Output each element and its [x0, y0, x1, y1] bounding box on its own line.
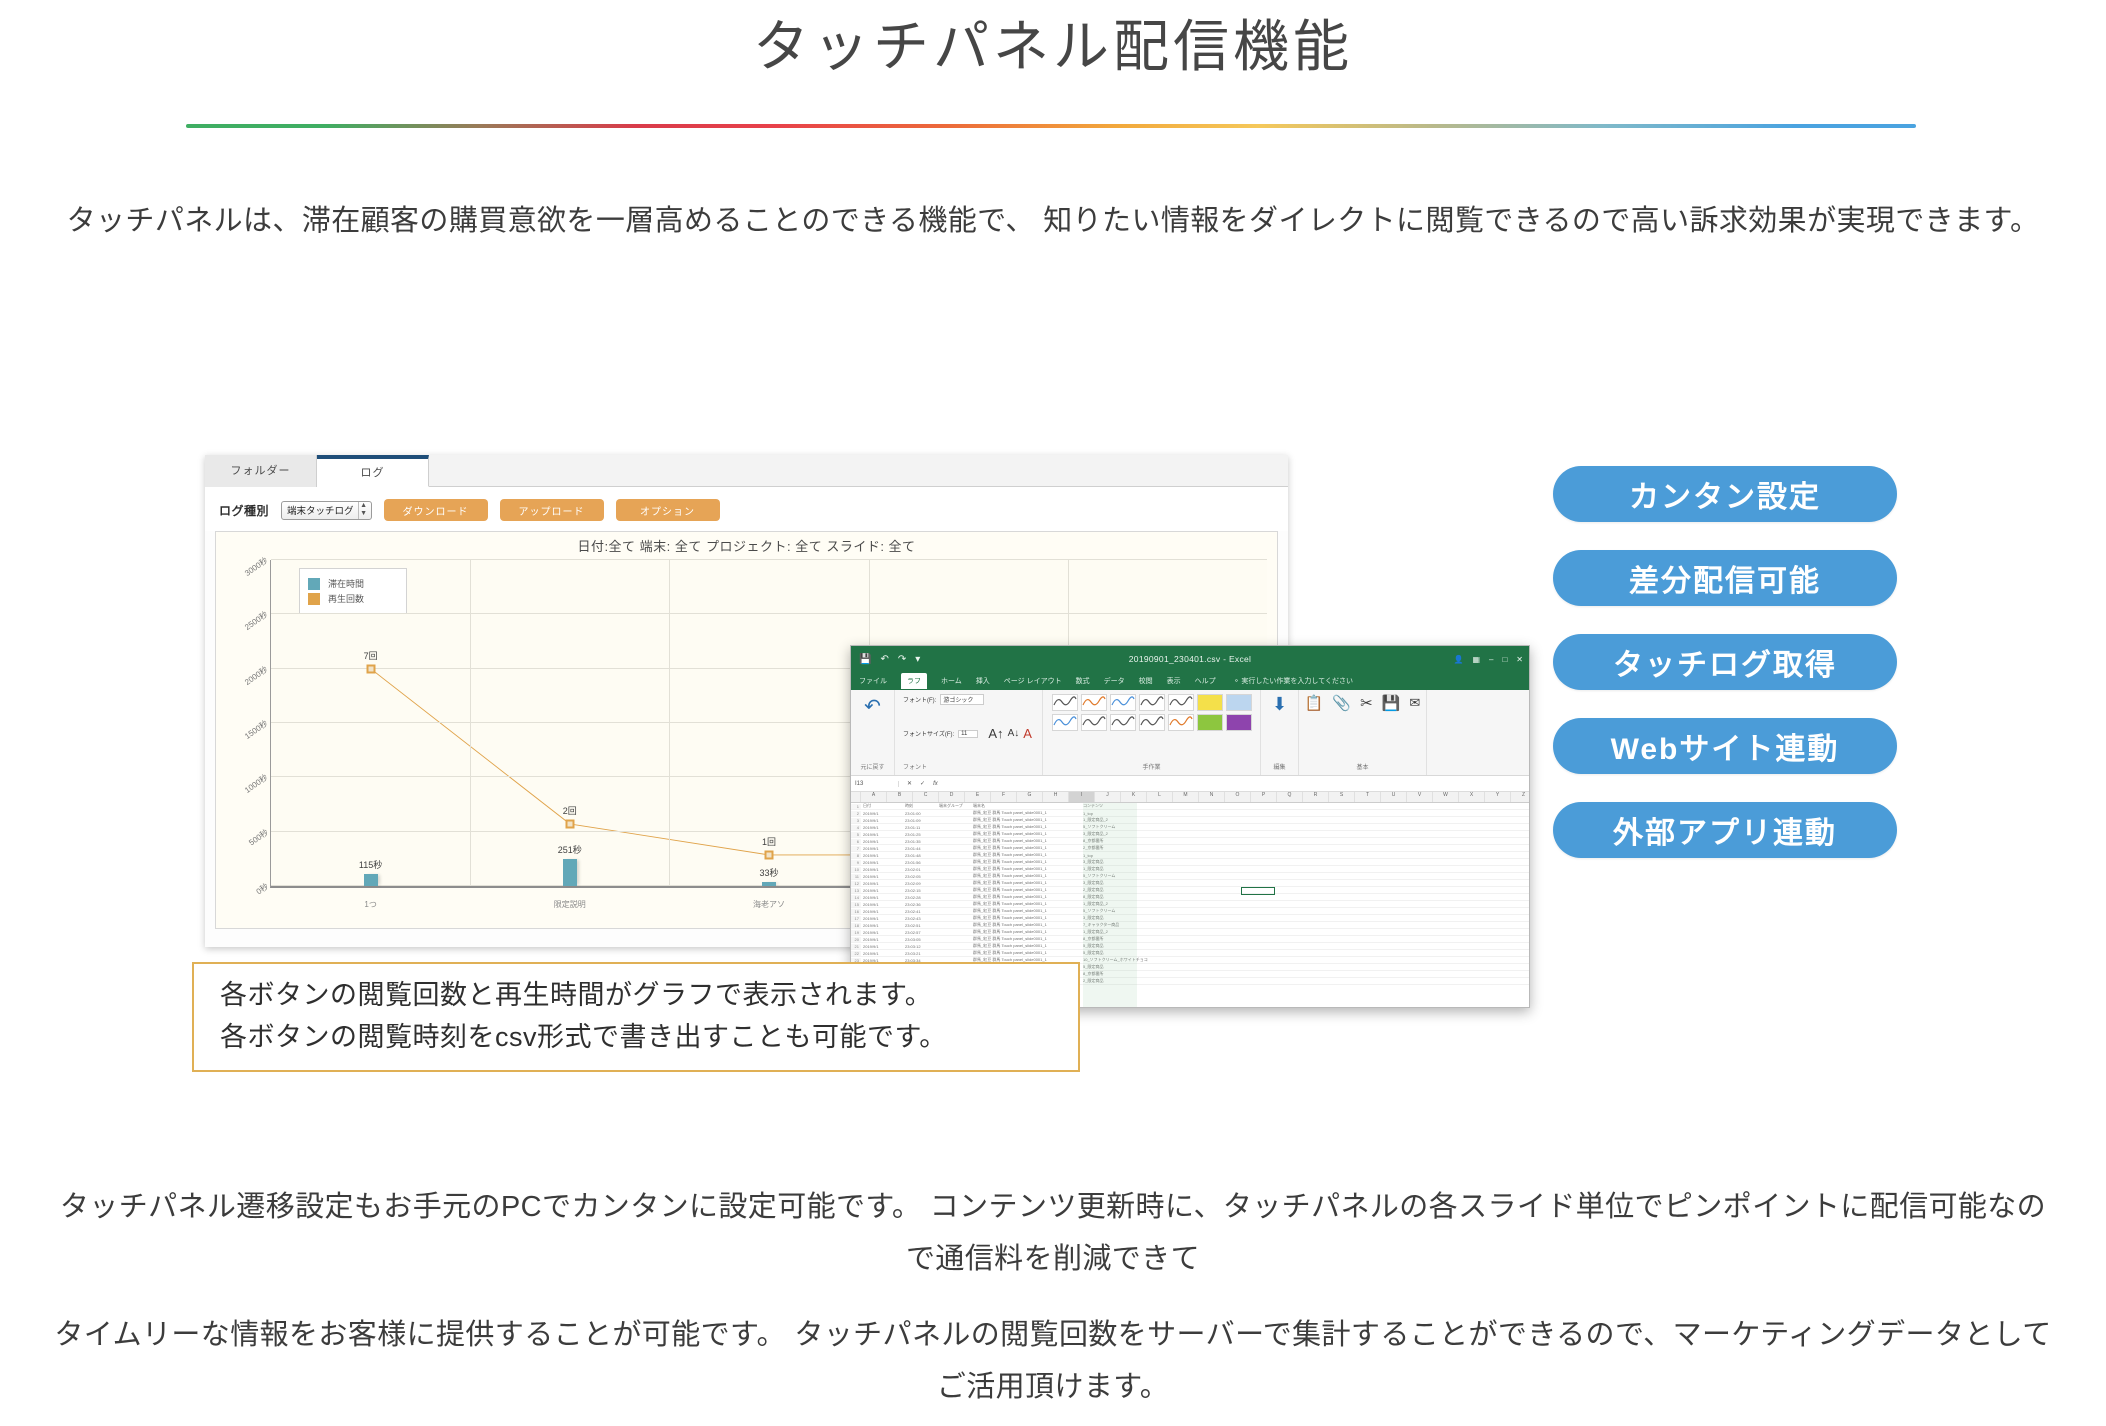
column-header-E[interactable]: E — [965, 792, 991, 802]
tell-me-box[interactable]: ⚬ 実行したい作業を入力してください — [1234, 676, 1353, 686]
table-cell: 2019/9/1 — [861, 846, 905, 851]
tab-folder[interactable]: フォルダー — [205, 455, 317, 487]
table-cell: 23:01:25 — [905, 832, 939, 837]
table-cell: 群馬_紅豆 群馬 Touch panel_slide0001_1 — [973, 831, 1083, 837]
table-cell: 2019/9/1 — [861, 923, 905, 928]
table-cell: 2019/9/1 — [861, 874, 905, 879]
table-cell: 23:03:21 — [905, 951, 939, 956]
column-headers: ABCDEFGHIJKLMNOPQRSTUVWXYZAAABACADAE — [851, 792, 1529, 803]
feature-pill-list: カンタン設定差分配信可能タッチログ取得Webサイト連動外部アプリ連動 — [1553, 466, 1897, 858]
table-cell: 23:01:56 — [905, 860, 939, 865]
feature-pill-4[interactable]: Webサイト連動 — [1553, 718, 1897, 774]
row-number[interactable]: 15 — [851, 902, 861, 907]
ribbon-group-styles: 手作業 — [1043, 690, 1261, 775]
style-swatch-10[interactable] — [1110, 714, 1136, 731]
table-row[interactable]: 82019/9/123:01:48群馬_紅豆 群馬 Touch panel_sl… — [851, 852, 1529, 859]
excel-ribbon: ↶ 元に戻す フォント(F): 游ゴシック フォントサイズ(F): 11 A↑ … — [851, 690, 1529, 776]
excel-window: 💾 ↶ ↷ ▾ 20190901_230401.csv - Excel 👤 ▦ … — [850, 645, 1530, 1008]
row-number[interactable]: 22 — [851, 951, 861, 956]
upload-button[interactable]: アップロード — [500, 499, 604, 521]
table-cell: 群馬_紅豆 群馬 Touch panel_slide0001_1 — [973, 859, 1083, 865]
column-header-X[interactable]: X — [1459, 792, 1485, 802]
table-cell: 2019/9/1 — [861, 881, 905, 886]
table-cell: 2019/9/1 — [861, 853, 905, 858]
ribbon-group-undo: ↶ 元に戻す — [851, 690, 895, 775]
table-cell: 群馬_紅豆 群馬 Touch panel_slide0001_1 — [973, 852, 1083, 858]
y-axis-tick-label: 1500秒 — [243, 718, 270, 742]
y-axis-tick-label: 2500秒 — [243, 609, 270, 633]
table-cell: 23:02:01 — [905, 867, 939, 872]
style-swatch-11[interactable] — [1139, 714, 1165, 731]
download-arrow-icon[interactable]: ⬇ — [1272, 694, 1287, 715]
style-swatch-3[interactable] — [1110, 694, 1136, 711]
column-header-J[interactable]: J — [1095, 792, 1121, 802]
column-header-V[interactable]: V — [1407, 792, 1433, 802]
table-row[interactable]: 112019/9/123:02:05群馬_紅豆 群馬 Touch panel_s… — [851, 873, 1529, 880]
log-type-label: ログ種別 — [219, 502, 269, 519]
style-swatch-7[interactable] — [1226, 694, 1252, 711]
email-icon[interactable]: ✉ — [1409, 695, 1420, 711]
account-icon[interactable]: 👤 — [1453, 655, 1463, 664]
table-cell: 23:01:09 — [905, 818, 939, 823]
outro-paragraph-1: タッチパネル遷移設定もお手元のPCでカンタンに設定可能です。 コンテンツ更新時に… — [48, 1182, 2058, 1285]
column-header-O[interactable]: O — [1225, 792, 1251, 802]
x-axis-tick-label: 海老アソ — [753, 899, 785, 910]
style-swatch-14[interactable] — [1226, 714, 1252, 731]
shrink-font-icon[interactable]: A↓ — [1008, 728, 1020, 739]
ribbon-group-label: 元に戻す — [860, 762, 884, 771]
selected-cell[interactable] — [1241, 887, 1275, 895]
font-label: フォント(F): — [903, 695, 936, 704]
table-cell: 2019/9/1 — [861, 825, 905, 830]
window-controls: 👤 ▦ – □ ✕ — [1453, 655, 1523, 664]
table-header-cell: 日付 — [861, 803, 905, 809]
x-axis-tick-label: 1つ — [364, 899, 376, 910]
column-header-W[interactable]: W — [1433, 792, 1459, 802]
table-row[interactable]: 72019/9/123:01:44群馬_紅豆 群馬 Touch panel_sl… — [851, 845, 1529, 852]
table-row[interactable]: 192019/9/123:02:57群馬_紅豆 群馬 Touch panel_s… — [851, 929, 1529, 936]
row-number[interactable]: 20 — [851, 937, 861, 942]
chart-line-marker — [565, 819, 574, 828]
highlighted-column — [1083, 803, 1137, 1008]
table-cell: 群馬_紅豆 群馬 Touch panel_slide0001_1 — [973, 873, 1083, 879]
column-header-F[interactable]: F — [991, 792, 1017, 802]
row-number[interactable]: 12 — [851, 881, 861, 886]
column-header-K[interactable]: K — [1121, 792, 1147, 802]
column-header-A[interactable]: A — [861, 792, 887, 802]
column-header-B[interactable]: B — [887, 792, 913, 802]
table-cell: 23:03:12 — [905, 944, 939, 949]
table-row[interactable]: 202019/9/123:03:05群馬_紅豆 群馬 Touch panel_s… — [851, 936, 1529, 943]
style-swatch-6[interactable] — [1197, 694, 1223, 711]
ribbon-tab-ページ レイアウト[interactable]: ページ レイアウト — [1004, 676, 1062, 686]
row-number[interactable]: 6 — [851, 839, 861, 844]
chart-gridline — [271, 559, 1267, 560]
style-swatch-4[interactable] — [1139, 694, 1165, 711]
table-cell: 2019/9/1 — [861, 937, 905, 942]
chart-line-marker — [765, 850, 774, 859]
table-cell: 2019/9/1 — [861, 818, 905, 823]
table-row[interactable]: 22019/9/123:01:00群馬_紅豆 群馬 Touch panel_sl… — [851, 810, 1529, 817]
stepper-icon: ▲▼ — [358, 502, 369, 519]
column-header-Z[interactable]: Z — [1511, 792, 1530, 802]
table-cell: 23:02:41 — [905, 909, 939, 914]
column-header-G[interactable]: G — [1017, 792, 1043, 802]
style-swatch-13[interactable] — [1197, 714, 1223, 731]
table-cell: 23:01:35 — [905, 839, 939, 844]
table-cell: 23:02:09 — [905, 881, 939, 886]
table-cell: 群馬_紅豆 群馬 Touch panel_slide0001_1 — [973, 845, 1083, 851]
copy-icon[interactable]: 📋 — [1305, 694, 1324, 712]
intro-paragraph: タッチパネルは、滞在顧客の購買意欲を一層高めることのできる機能で、 知りたい情報… — [48, 196, 2058, 248]
table-cell: 群馬_紅豆 群馬 Touch panel_slide0001_1 — [973, 866, 1083, 872]
table-cell: 群馬_紅豆 群馬 Touch panel_slide0001_1 — [973, 894, 1083, 900]
table-cell: 23:02:28 — [905, 895, 939, 900]
table-row[interactable]: 212019/9/123:03:12群馬_紅豆 群馬 Touch panel_s… — [851, 943, 1529, 950]
column-header-Q[interactable]: Q — [1277, 792, 1303, 802]
style-swatch-2[interactable] — [1081, 694, 1107, 711]
chart-line-value-label: 7回 — [364, 649, 378, 662]
row-number[interactable]: 3 — [851, 818, 861, 823]
table-cell: 2019/9/1 — [861, 839, 905, 844]
column-header-D[interactable]: D — [939, 792, 965, 802]
table-cell: 2019/9/1 — [861, 902, 905, 907]
table-header-cell: 端末グループ — [939, 803, 973, 809]
ribbon-group-label: フォント — [903, 762, 927, 771]
feature-pill-label: タッチログ取得 — [1613, 640, 1837, 684]
ribbon-tab-ラフ[interactable]: ラフ — [901, 673, 927, 689]
table-cell: 2019/9/1 — [861, 916, 905, 921]
column-header-N[interactable]: N — [1199, 792, 1225, 802]
row-number[interactable]: 5 — [851, 832, 861, 837]
log-type-select[interactable]: 端末タッチログ ▲▼ — [281, 501, 372, 520]
font-color-icon[interactable]: A — [1023, 726, 1032, 741]
outro-paragraph-2: タイムリーな情報をお客様に提供することが可能です。 タッチパネルの閲覧回数をサー… — [48, 1310, 2058, 1413]
table-cell: 2019/9/1 — [861, 895, 905, 900]
table-cell: 群馬_紅豆 群馬 Touch panel_slide0001_1 — [973, 908, 1083, 914]
table-cell: 23:02:05 — [905, 874, 939, 879]
minimize-icon[interactable]: – — [1489, 655, 1493, 664]
row-number[interactable]: 7 — [851, 846, 861, 851]
log-toolbar: ログ種別 端末タッチログ ▲▼ ダウンロード アップロード オプション — [205, 487, 1288, 531]
column-header-R[interactable]: R — [1303, 792, 1329, 802]
chart-bar — [364, 874, 378, 886]
row-number[interactable]: 8 — [851, 853, 861, 858]
table-row[interactable]: 172019/9/123:02:43群馬_紅豆 群馬 Touch panel_s… — [851, 915, 1529, 922]
chart-bar — [563, 859, 577, 886]
table-cell: 群馬_紅豆 群馬 Touch panel_slide0001_1 — [973, 915, 1083, 921]
table-row[interactable]: 102019/9/123:02:01群馬_紅豆 群馬 Touch panel_s… — [851, 866, 1529, 873]
log-type-value: 端末タッチログ — [287, 503, 354, 517]
column-header-P[interactable]: P — [1251, 792, 1277, 802]
ribbon-tab-ファイル[interactable]: ファイル — [859, 676, 887, 686]
gradient-divider — [186, 124, 1916, 128]
column-header-S[interactable]: S — [1329, 792, 1355, 802]
confirm-icon[interactable]: ✓ — [920, 780, 925, 787]
row-number[interactable]: 14 — [851, 895, 861, 900]
style-swatch-1[interactable] — [1052, 694, 1078, 711]
table-cell: 2019/9/1 — [861, 860, 905, 865]
restore-icon[interactable]: □ — [1502, 655, 1507, 664]
filter-summary: 日付:全て 端末: 全て プロジェクト: 全て スライド: 全て — [216, 536, 1277, 555]
table-cell: 2019/9/1 — [861, 930, 905, 935]
row-number[interactable]: 13 — [851, 888, 861, 893]
table-cell: 群馬_紅豆 群馬 Touch panel_slide0001_1 — [973, 824, 1083, 830]
y-axis-tick-label: 0秒 — [254, 881, 271, 897]
font-size-label: フォントサイズ(F): — [903, 729, 954, 738]
table-cell: 23:01:44 — [905, 846, 939, 851]
row-number[interactable]: 11 — [851, 874, 861, 879]
callout-line-1: 各ボタンの閲覧回数と再生時間がグラフで表示されます。 — [220, 975, 1078, 1017]
table-header-cell: 時刻 — [905, 803, 939, 809]
ribbon-group-label: 手作業 — [1142, 762, 1160, 771]
chart-bar — [762, 882, 776, 886]
table-header-cell: 端末名 — [973, 803, 1083, 809]
column-header-H[interactable]: H — [1043, 792, 1069, 802]
table-row[interactable]: 162019/9/123:02:41群馬_紅豆 群馬 Touch panel_s… — [851, 908, 1529, 915]
tab-strip: フォルダー ログ — [205, 455, 1288, 487]
style-gallery[interactable] — [1052, 694, 1252, 731]
name-box[interactable]: I13 — [855, 781, 899, 787]
table-row[interactable]: 142019/9/123:02:28群馬_紅豆 群馬 Touch panel_s… — [851, 894, 1529, 901]
table-cell: 2019/9/1 — [861, 944, 905, 949]
y-axis-tick-label: 1000秒 — [243, 772, 270, 796]
paste-icon[interactable]: 📎 — [1332, 694, 1351, 712]
style-swatch-8[interactable] — [1052, 714, 1078, 731]
table-cell: 23:01:11 — [905, 825, 939, 830]
column-header-C[interactable]: C — [913, 792, 939, 802]
chart-bar-value-label: 33秒 — [759, 866, 778, 879]
table-row[interactable]: 32019/9/123:01:09群馬_紅豆 群馬 Touch panel_sl… — [851, 817, 1529, 824]
row-number[interactable]: 10 — [851, 867, 861, 872]
ribbon-tab-データ[interactable]: データ — [1104, 676, 1125, 686]
table-cell: 群馬_紅豆 群馬 Touch panel_slide0001_1 — [973, 887, 1083, 893]
table-cell: 2019/9/1 — [861, 951, 905, 956]
column-header-T[interactable]: T — [1355, 792, 1381, 802]
column-header-Y[interactable]: Y — [1485, 792, 1511, 802]
table-cell: 群馬_紅豆 群馬 Touch panel_slide0001_1 — [973, 929, 1083, 935]
chart-line-marker — [366, 664, 375, 673]
row-number[interactable]: 16 — [851, 909, 861, 914]
excel-title: 20190901_230401.csv - Excel — [851, 654, 1529, 664]
table-cell: 23:03:05 — [905, 937, 939, 942]
option-button[interactable]: オプション — [616, 499, 720, 521]
ribbon-tab-数式[interactable]: 数式 — [1076, 676, 1090, 686]
table-cell: 群馬_紅豆 群馬 Touch panel_slide0001_1 — [973, 936, 1083, 942]
table-row[interactable]: 122019/9/123:02:09群馬_紅豆 群馬 Touch panel_s… — [851, 880, 1529, 887]
table-cell: 群馬_紅豆 群馬 Touch panel_slide0001_1 — [973, 810, 1083, 816]
style-swatch-5[interactable] — [1168, 694, 1194, 711]
table-cell: 2019/9/1 — [861, 811, 905, 816]
table-cell: 群馬_紅豆 群馬 Touch panel_slide0001_1 — [973, 880, 1083, 886]
table-cell: 23:02:36 — [905, 902, 939, 907]
undo-big-icon[interactable]: ↶ — [864, 694, 881, 719]
excel-ribbon-tabs: ファイルラフホーム挿入ページ レイアウト数式データ校閲表示ヘルプ⚬ 実行したい作… — [851, 672, 1529, 690]
feature-pill-label: 外部アプリ連動 — [1613, 808, 1837, 852]
cut-icon[interactable]: ✂ — [1360, 694, 1373, 712]
feature-pill-label: 差分配信可能 — [1629, 556, 1821, 600]
table-cell: 2019/9/1 — [861, 867, 905, 872]
table-cell: 23:01:48 — [905, 853, 939, 858]
function-icon[interactable]: fx — [933, 781, 938, 787]
feature-pill-label: カンタン設定 — [1629, 472, 1821, 516]
table-row[interactable]: 92019/9/123:01:56群馬_紅豆 群馬 Touch panel_sl… — [851, 859, 1529, 866]
column-header-I[interactable]: I — [1069, 792, 1095, 802]
font-value[interactable]: 游ゴシック — [940, 694, 984, 705]
close-icon[interactable]: ✕ — [1516, 655, 1523, 664]
column-header-U[interactable]: U — [1381, 792, 1407, 802]
ribbon-tab-ヘルプ[interactable]: ヘルプ — [1195, 676, 1216, 686]
ribbon-group-label: 編集 — [1273, 762, 1285, 771]
row-number[interactable]: 18 — [851, 923, 861, 928]
feature-pill-5[interactable]: 外部アプリ連動 — [1553, 802, 1897, 858]
chart-gridline — [271, 613, 1267, 614]
feature-pill-3[interactable]: タッチログ取得 — [1553, 634, 1897, 690]
table-row[interactable]: 52019/9/123:01:25群馬_紅豆 群馬 Touch panel_sl… — [851, 831, 1529, 838]
tab-log[interactable]: ログ — [317, 455, 429, 487]
table-row[interactable]: 182019/9/123:02:51群馬_紅豆 群馬 Touch panel_s… — [851, 922, 1529, 929]
table-row[interactable]: 132019/9/123:02:15群馬_紅豆 群馬 Touch panel_s… — [851, 887, 1529, 894]
y-axis-tick-label: 3000秒 — [243, 555, 270, 579]
chart-line-value-label: 2回 — [563, 804, 577, 817]
feature-pill-1[interactable]: カンタン設定 — [1553, 466, 1897, 522]
ribbon-tab-ホーム[interactable]: ホーム — [941, 676, 962, 686]
table-cell: 群馬_紅豆 群馬 Touch panel_slide0001_1 — [973, 922, 1083, 928]
chart-vertical-gridline — [470, 560, 471, 886]
formula-bar: I13 ✕ ✓ fx — [851, 776, 1529, 792]
table-cell: 群馬_紅豆 群馬 Touch panel_slide0001_1 — [973, 901, 1083, 907]
ribbon-group-edit: ⬇ 編集 — [1261, 690, 1299, 775]
ribbon-group-label: 基本 — [1356, 762, 1368, 771]
table-cell: 23:02:51 — [905, 923, 939, 928]
row-number[interactable]: 2 — [851, 811, 861, 816]
chart-bar-value-label: 115秒 — [359, 858, 382, 871]
page-title: タッチパネル配信機能 — [0, 0, 2106, 82]
ribbon-tab-校閲[interactable]: 校閲 — [1139, 676, 1153, 686]
table-row[interactable]: 152019/9/123:02:36群馬_紅豆 群馬 Touch panel_s… — [851, 901, 1529, 908]
ribbon-group-basic: 📋 📎 ✂ 💾 ✉ 基本 — [1299, 690, 1427, 775]
table-cell: 群馬_紅豆 群馬 Touch panel_slide0001_1 — [973, 838, 1083, 844]
screenshot-composite: フォルダー ログ ログ種別 端末タッチログ ▲▼ ダウンロード アップロード オ… — [205, 455, 1535, 1005]
select-all-corner[interactable] — [851, 792, 861, 802]
ribbon-group-font: フォント(F): 游ゴシック フォントサイズ(F): 11 A↑ A↓ A フォ… — [895, 690, 1043, 775]
row-number[interactable]: 9 — [851, 860, 861, 865]
style-swatch-9[interactable] — [1081, 714, 1107, 731]
ribbon-tab-表示[interactable]: 表示 — [1167, 676, 1181, 686]
download-button[interactable]: ダウンロード — [384, 499, 488, 521]
feature-pill-label: Webサイト連動 — [1611, 724, 1840, 768]
table-cell: 23:02:43 — [905, 916, 939, 921]
cancel-icon[interactable]: ✕ — [907, 780, 912, 787]
table-cell: 群馬_紅豆 群馬 Touch panel_slide0001_1 — [973, 817, 1083, 823]
feature-pill-2[interactable]: 差分配信可能 — [1553, 550, 1897, 606]
table-cell: 23:02:57 — [905, 930, 939, 935]
chart-vertical-gridline — [669, 560, 670, 886]
table-cell: 23:01:00 — [905, 811, 939, 816]
row-number[interactable]: 21 — [851, 944, 861, 949]
y-axis-tick-label: 2000秒 — [243, 664, 270, 688]
row-number[interactable]: 19 — [851, 930, 861, 935]
column-header-M[interactable]: M — [1173, 792, 1199, 802]
chart-line-value-label: 1回 — [762, 835, 776, 848]
chart-bar-value-label: 251秒 — [558, 843, 582, 856]
ribbon-tab-挿入[interactable]: 挿入 — [976, 676, 990, 686]
table-header-row: 1日付時刻端末グループ端末名コンテンツ — [851, 803, 1529, 810]
table-cell: 23:02:15 — [905, 888, 939, 893]
row-number[interactable]: 4 — [851, 825, 861, 830]
table-row[interactable]: 62019/9/123:01:35群馬_紅豆 群馬 Touch panel_sl… — [851, 838, 1529, 845]
column-header-L[interactable]: L — [1147, 792, 1173, 802]
callout-line-2: 各ボタンの閲覧時刻をcsv形式で書き出すことも可能です。 — [220, 1017, 1078, 1059]
table-cell: 2019/9/1 — [861, 888, 905, 893]
table-row[interactable]: 222019/9/123:03:21群馬_紅豆 群馬 Touch panel_s… — [851, 950, 1529, 957]
table-cell: 2019/9/1 — [861, 909, 905, 914]
annotation-callout: 各ボタンの閲覧回数と再生時間がグラフで表示されます。 各ボタンの閲覧時刻をcsv… — [192, 962, 1080, 1072]
row-number[interactable]: 17 — [851, 916, 861, 921]
x-axis-tick-label: 限定説明 — [554, 899, 586, 910]
table-row[interactable]: 42019/9/123:01:11群馬_紅豆 群馬 Touch panel_sl… — [851, 824, 1529, 831]
style-swatch-12[interactable] — [1168, 714, 1194, 731]
save-disk-icon[interactable]: 💾 — [1382, 694, 1401, 712]
table-cell: 群馬_紅豆 群馬 Touch panel_slide0001_1 — [973, 950, 1083, 956]
excel-titlebar: 💾 ↶ ↷ ▾ 20190901_230401.csv - Excel 👤 ▦ … — [851, 646, 1529, 672]
font-size-value[interactable]: 11 — [958, 730, 978, 738]
table-cell: 2019/9/1 — [861, 832, 905, 837]
grow-font-icon[interactable]: A↑ — [988, 726, 1003, 741]
row-number[interactable]: 1 — [851, 804, 861, 809]
ribbon-options-icon[interactable]: ▦ — [1472, 655, 1480, 664]
table-cell: 群馬_紅豆 群馬 Touch panel_slide0001_1 — [973, 943, 1083, 949]
y-axis-tick-label: 500秒 — [246, 827, 270, 848]
